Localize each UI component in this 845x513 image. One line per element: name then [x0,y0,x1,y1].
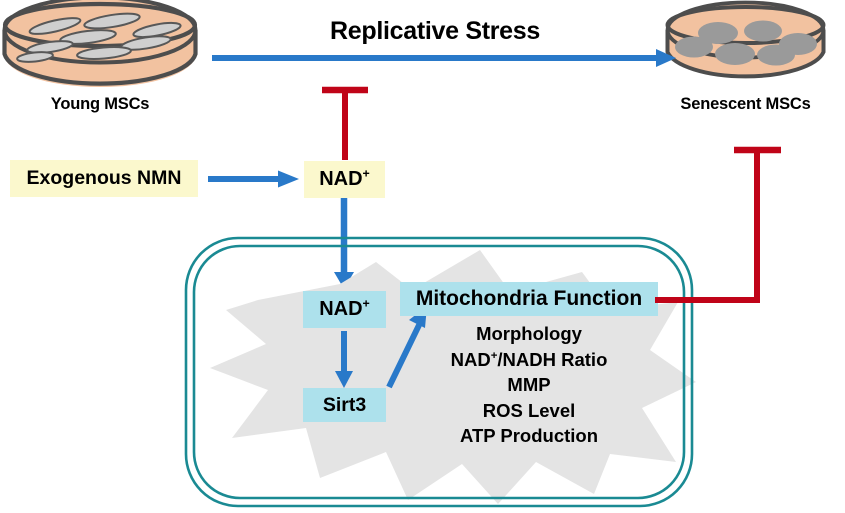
pathway-diagram: Young MSCs Senescent MSCs Replicative St… [0,0,845,513]
mitochondria-function-box: Mitochondria Function [400,282,658,316]
readout-item: MMP [400,372,658,398]
senescent-msc-label: Senescent MSCs [653,95,838,114]
mitochondria-function-label: Mitochondria Function [416,287,642,311]
readout-item: ATP Production [400,423,658,449]
readout-item: ROS Level [400,398,658,424]
sirt3-label: Sirt3 [323,394,366,417]
nad-inhibits-replicative-stress [318,68,372,163]
replicative-stress-label: Replicative Stress [245,17,625,46]
extracellular-nad-box: NAD+ [304,161,385,198]
mitochondria-readout-list: Morphology NAD+/NADH Ratio MMP ROS Level… [400,321,658,449]
young-msc-label: Young MSCs [0,95,200,114]
readout-item: Morphology [400,321,658,347]
exogenous-nmn-box: Exogenous NMN [10,160,198,197]
nad-to-sirt3-arrow [332,331,356,389]
extracellular-nad-label: NAD+ [319,168,370,191]
intracellular-nad-box: NAD+ [303,291,386,328]
sirt3-box: Sirt3 [303,388,386,422]
young-msc-dish [0,2,200,92]
replicative-stress-arrow [210,47,680,69]
mito-inhibits-senescence [650,140,790,310]
intracellular-nad-label: NAD+ [319,298,370,321]
nmn-to-nad-arrow [206,169,302,189]
readout-item: NAD+/NADH Ratio [400,347,658,373]
senescent-msc-dish [663,4,828,92]
exogenous-nmn-label: Exogenous NMN [27,167,182,190]
